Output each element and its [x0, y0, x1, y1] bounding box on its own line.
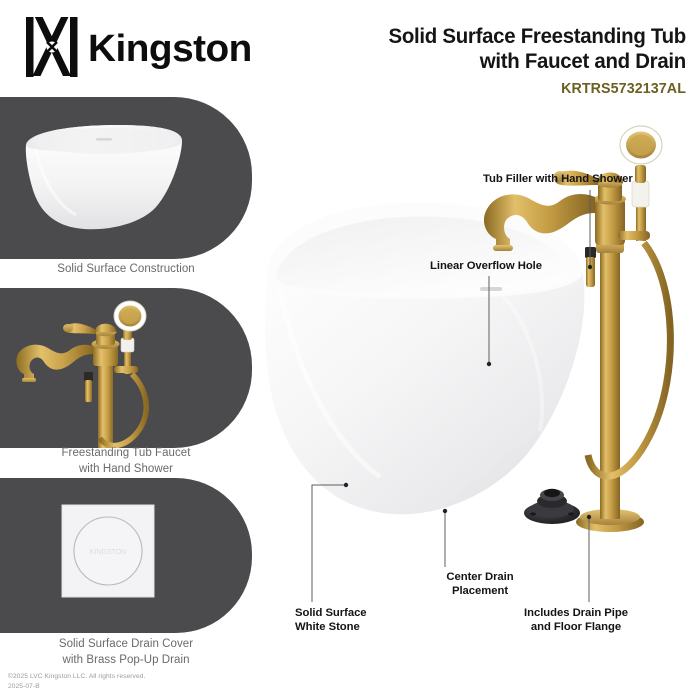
feature-panel-construction [0, 97, 252, 259]
copyright-text: ©2025 LVC Kingston LLC. All rights reser… [8, 672, 145, 682]
svg-text:KINGSTON: KINGSTON [90, 549, 126, 556]
callout-tub-filler: Tub Filler with Hand Shower [483, 172, 633, 186]
kingston-monogram-icon [24, 16, 82, 78]
page-title-line-2: with Faucet and Drain [373, 49, 687, 74]
feature-panel-faucet [0, 288, 252, 448]
feature-caption-drain-cover: Solid Surface Drain Cover with Brass Pop… [0, 637, 252, 668]
feature-caption-faucet-line1: Freestanding Tub Faucet [61, 447, 190, 459]
product-title-block: Solid Surface Freestanding Tub with Fauc… [356, 24, 686, 97]
main-bathtub-illustration [265, 203, 584, 515]
freestanding-bathtub-icon [0, 97, 252, 259]
callout-linear-overflow-hole: Linear Overflow Hole [430, 259, 542, 273]
feature-caption-faucet-line2: with Hand Shower [79, 463, 173, 475]
linear-overflow-slot [480, 287, 502, 291]
feature-caption-drain-line1: Solid Surface Drain Cover [59, 638, 193, 650]
spec-sheet: Kingston Solid Surface Freestanding Tub … [0, 0, 700, 700]
feature-caption-faucet: Freestanding Tub Faucet with Hand Shower [0, 446, 252, 477]
brass-tub-faucet-icon [0, 288, 252, 448]
footer-legal: ©2025 LVC Kingston LLC. All rights reser… [8, 672, 145, 692]
feature-panel-drain-cover: KINGSTON [0, 478, 252, 633]
page-title-line-1: Solid Surface Freestanding Tub [373, 24, 687, 49]
doc-code-text: 2025-07-B [8, 682, 145, 692]
callout-drain-pipe-floor-flange: Includes Drain Pipe and Floor Flange [501, 606, 651, 635]
brand-name: Kingston [88, 30, 252, 68]
square-drain-cover-icon: KINGSTON [0, 478, 252, 633]
callout-solid-surface-white-stone: Solid Surface White Stone [295, 606, 367, 635]
page-header: Kingston Solid Surface Freestanding Tub … [0, 0, 700, 95]
feature-caption-construction: Solid Surface Construction [0, 262, 252, 278]
callout-center-drain-placement: Center Drain Placement [412, 570, 548, 599]
drain-pipe-floor-flange-illustration [524, 489, 580, 524]
feature-caption-drain-line2: with Brass Pop-Up Drain [62, 654, 189, 666]
